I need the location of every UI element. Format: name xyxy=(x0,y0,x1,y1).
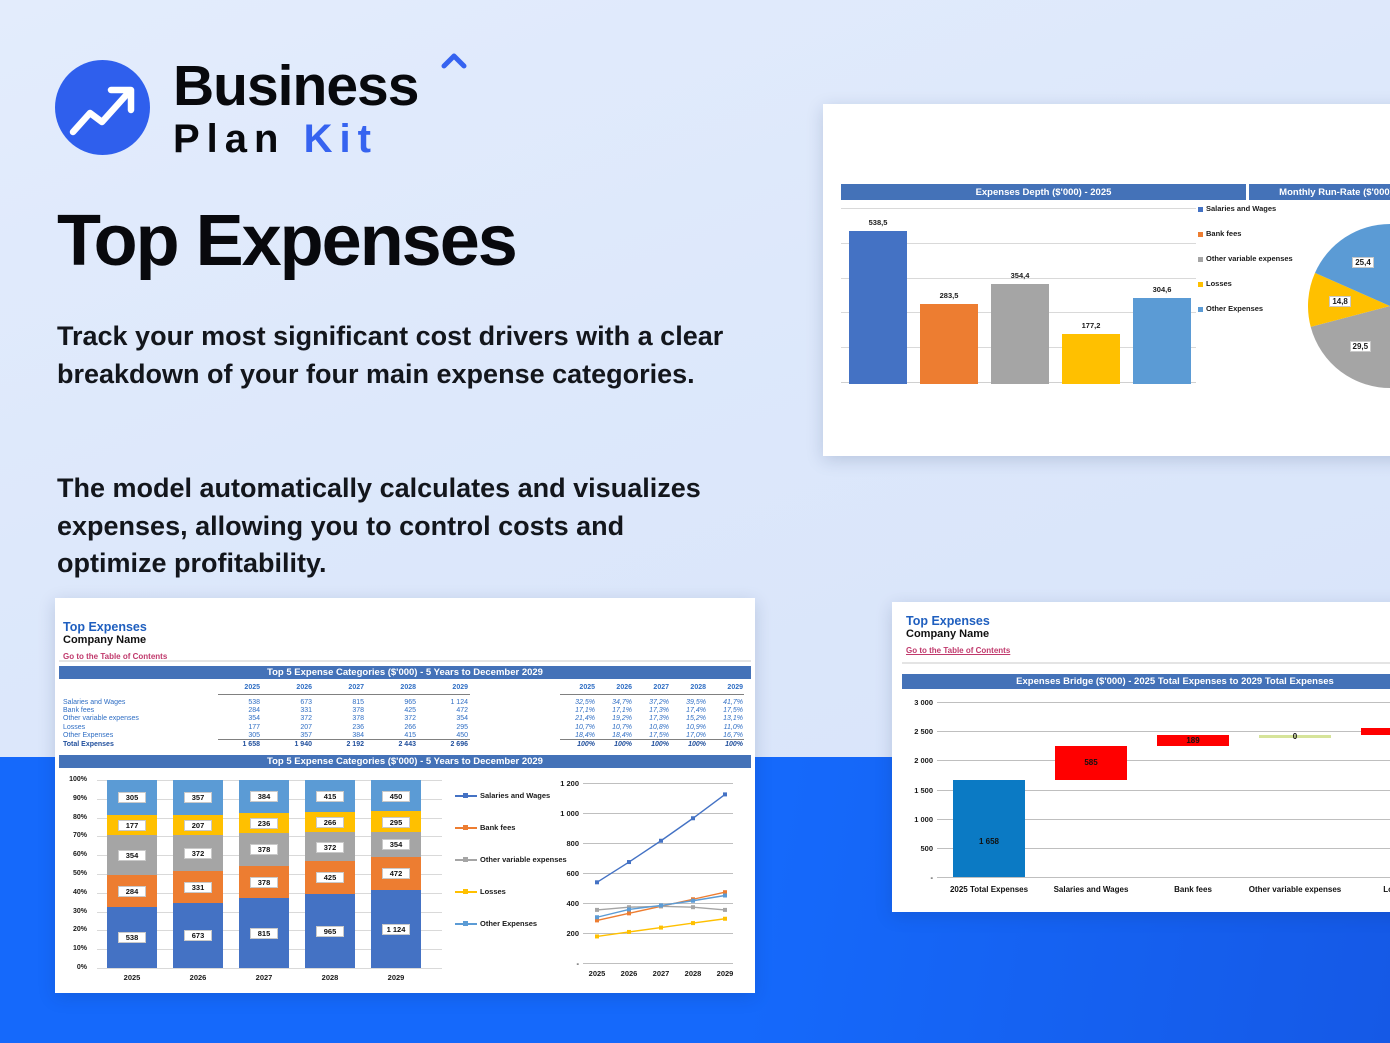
expenses-depth-chart-title: Expenses Depth ($'000) - 2025 xyxy=(841,184,1246,200)
table-row-label: Other variable expenses xyxy=(63,715,139,722)
bridge-x-label: Salaries and Wages xyxy=(1037,885,1145,894)
line-chart-svg xyxy=(583,783,747,967)
segment-value-label: 305 xyxy=(118,792,146,803)
pct-cell: 17,5% xyxy=(637,732,669,739)
gridline xyxy=(841,208,1196,209)
line-marker xyxy=(723,908,727,912)
bridge-sheet-header: Top Expenses Company Name Go to the Tabl… xyxy=(906,614,1010,658)
pct-year-header: 2025 xyxy=(563,684,595,691)
table-cell: 673 xyxy=(270,699,312,706)
table-cell: 425 xyxy=(374,707,416,714)
table-rule xyxy=(218,694,470,695)
expense-categories-panel[interactable]: Top Expenses Company Name Go to the Tabl… xyxy=(55,598,755,993)
line-legend-item: Losses xyxy=(455,887,567,896)
bridge-bar-label: 1 658 xyxy=(953,837,1025,846)
pct-cell: 17,0% xyxy=(674,732,706,739)
hero-paragraph-2: The model automatically calculates and v… xyxy=(57,470,737,583)
line-legend-swatch xyxy=(455,855,477,864)
pct-cell: 32,5% xyxy=(563,699,595,706)
segment-value-label: 354 xyxy=(382,839,410,850)
brand-name-line1: Business xyxy=(173,55,418,117)
pct-year-header: 2026 xyxy=(600,684,632,691)
table-cell: 472 xyxy=(426,707,468,714)
pct-year-header: 2028 xyxy=(674,684,706,691)
bar-0 xyxy=(849,231,907,384)
legend-swatch xyxy=(1198,307,1203,312)
bridge-axis-tick: 500 xyxy=(897,844,933,853)
table-total-cell: 2 696 xyxy=(426,741,468,748)
bridge-axis-tick: 1 000 xyxy=(897,815,933,824)
stack-x-label: 2026 xyxy=(173,973,223,982)
table-cell: 354 xyxy=(426,715,468,722)
pct-cell: 21,4% xyxy=(563,715,595,722)
table-total-cell: 2 192 xyxy=(322,741,364,748)
segment-value-label: 372 xyxy=(184,848,212,859)
line-marker xyxy=(659,926,663,930)
bar-value-label: 304,6 xyxy=(1133,285,1191,294)
line-legend-item: Bank fees xyxy=(455,823,567,832)
legend-item: Losses xyxy=(1198,279,1293,288)
gridline xyxy=(937,702,1390,703)
table-year-header: 2026 xyxy=(270,684,312,691)
pct-cell: 39,5% xyxy=(674,699,706,706)
table-cell: 965 xyxy=(374,699,416,706)
table-total-cell: 1 940 xyxy=(270,741,312,748)
bar-2 xyxy=(991,284,1049,384)
segment-value-label: 384 xyxy=(250,791,278,802)
bridge-bar-label: 0 xyxy=(1259,732,1331,741)
pct-year-header: 2029 xyxy=(711,684,743,691)
segment-value-label: 1 124 xyxy=(382,924,410,935)
bridge-x-label: Bank fees xyxy=(1139,885,1247,894)
table-cell: 266 xyxy=(374,724,416,731)
pct-axis-tick: 70% xyxy=(63,832,87,839)
bar-value-label: 177,2 xyxy=(1062,321,1120,330)
bar-4 xyxy=(1133,298,1191,384)
bridge-axis-tick: - xyxy=(897,873,933,882)
pct-cell: 13,1% xyxy=(711,715,743,722)
line-x-label: 2027 xyxy=(645,969,677,978)
bar-value-label: 354,4 xyxy=(991,271,1049,280)
bridge-table-of-contents-link[interactable]: Go to the Table of Contents xyxy=(906,646,1010,655)
line-axis-tick: 1 000 xyxy=(543,809,579,818)
legend-swatch xyxy=(1198,232,1203,237)
legend-label: Bank fees xyxy=(1206,229,1241,238)
table-cell: 372 xyxy=(374,715,416,722)
pct-cell: 17,3% xyxy=(637,715,669,722)
pct-total-cell: 100% xyxy=(674,741,706,748)
line-marker xyxy=(627,860,631,864)
line-marker xyxy=(595,915,599,919)
expenses-bridge-panel[interactable]: Top Expenses Company Name Go to the Tabl… xyxy=(892,602,1390,912)
expenses-bridge-chart-title: Expenses Bridge ($'000) - 2025 Total Exp… xyxy=(902,674,1390,689)
line-marker xyxy=(595,934,599,938)
segment-value-label: 378 xyxy=(250,877,278,888)
table-cell: 415 xyxy=(374,732,416,739)
table-cell: 450 xyxy=(426,732,468,739)
legend-label: Other variable expenses xyxy=(1206,254,1293,263)
legend-marker xyxy=(463,857,468,862)
line-marker xyxy=(691,899,695,903)
segment-value-label: 207 xyxy=(184,820,212,831)
line-marker xyxy=(627,911,631,915)
table-total-cell: 1 658 xyxy=(218,741,260,748)
pct-cell: 10,7% xyxy=(563,724,595,731)
line-x-label: 2025 xyxy=(581,969,613,978)
segment-value-label: 177 xyxy=(118,820,146,831)
pct-axis-tick: 90% xyxy=(63,795,87,802)
table-cell: 815 xyxy=(322,699,364,706)
pct-cell: 17,5% xyxy=(711,707,743,714)
line-legend-swatch xyxy=(455,919,477,928)
line-legend-item: Other variable expenses xyxy=(455,855,567,864)
bridge-sheet-subtitle: Company Name xyxy=(906,628,1010,640)
table-cell: 378 xyxy=(322,715,364,722)
brand-kit-text: Kit xyxy=(304,117,378,161)
line-legend-label: Losses xyxy=(480,887,506,896)
legend-swatch xyxy=(1198,257,1203,262)
segment-value-label: 284 xyxy=(118,886,146,897)
pct-cell: 17,1% xyxy=(563,707,595,714)
line-marker xyxy=(659,903,663,907)
line-legend-swatch xyxy=(455,823,477,832)
top-chart-titlebar: Expenses Depth ($'000) - 2025 Monthly Ru… xyxy=(841,184,1390,200)
legend-swatch xyxy=(1198,282,1203,287)
bar-3 xyxy=(1062,334,1120,384)
pct-cell: 37,2% xyxy=(637,699,669,706)
legend-marker xyxy=(463,825,468,830)
table-row-label: Bank fees xyxy=(63,707,94,714)
bridge-axis-tick: 1 500 xyxy=(897,786,933,795)
pct-cell: 17,3% xyxy=(637,707,669,714)
bar-value-label: 538,5 xyxy=(849,218,907,227)
sheet-divider xyxy=(59,660,751,662)
bridge-axis-tick: 2 500 xyxy=(897,727,933,736)
table-cell: 378 xyxy=(322,707,364,714)
pct-cell: 41,7% xyxy=(711,699,743,706)
brand-plan-text: Plan xyxy=(173,117,285,161)
legend-item: Other Expenses xyxy=(1198,304,1293,313)
pct-axis-tick: 20% xyxy=(63,926,87,933)
legend-swatch xyxy=(1198,207,1203,212)
bridge-x-label: Other variable expenses xyxy=(1241,885,1349,894)
brand-name-line2: Plan Kit xyxy=(173,117,418,161)
line-legend-swatch xyxy=(455,887,477,896)
sheet-title: Top Expenses xyxy=(63,620,167,634)
gridline xyxy=(97,968,442,969)
line-axis-tick: 800 xyxy=(543,839,579,848)
pct-cell: 10,8% xyxy=(637,724,669,731)
pct-cell: 16,7% xyxy=(711,732,743,739)
line-marker xyxy=(627,930,631,934)
legend-item: Bank fees xyxy=(1198,229,1293,238)
segment-value-label: 354 xyxy=(118,850,146,861)
total-rule xyxy=(218,739,470,740)
pct-total-cell: 100% xyxy=(563,741,595,748)
pct-cell: 17,1% xyxy=(600,707,632,714)
table-year-header: 2028 xyxy=(374,684,416,691)
legend-item: Salaries and Wages xyxy=(1198,204,1293,213)
legend-item: Other variable expenses xyxy=(1198,254,1293,263)
bridge-axis-tick: 2 000 xyxy=(897,756,933,765)
table-cell: 538 xyxy=(218,699,260,706)
legend-marker xyxy=(463,889,468,894)
pct-cell: 17,4% xyxy=(674,707,706,714)
line-marker xyxy=(627,907,631,911)
line-legend-label: Other variable expenses xyxy=(480,855,567,864)
line-marker xyxy=(595,880,599,884)
expenses-depth-bar-chart: 538,5283,5354,4177,2304,6 xyxy=(841,204,1221,384)
stack-x-label: 2025 xyxy=(107,973,157,982)
circumflex-accent-icon xyxy=(441,53,467,69)
bridge-bar-0 xyxy=(953,780,1025,877)
bar-value-label: 283,5 xyxy=(920,291,978,300)
line-axis-tick: 1 200 xyxy=(543,779,579,788)
pie-value-label: 14,8 xyxy=(1329,296,1351,307)
pct-cell: 15,2% xyxy=(674,715,706,722)
table-cell: 236 xyxy=(322,724,364,731)
sheet-header: Top Expenses Company Name Go to the Tabl… xyxy=(63,620,167,664)
pct-axis-tick: 100% xyxy=(63,776,87,783)
table-cell: 284 xyxy=(218,707,260,714)
table-row-label: Losses xyxy=(63,724,85,731)
pie-value-label: 29,5 xyxy=(1350,341,1372,352)
bridge-sheet-title: Top Expenses xyxy=(906,614,1010,628)
table-cell: 331 xyxy=(270,707,312,714)
line-legend-item: Other Expenses xyxy=(455,919,567,928)
segment-value-label: 815 xyxy=(250,928,278,939)
line-x-label: 2029 xyxy=(709,969,741,978)
pie-value-label: 25,4 xyxy=(1352,257,1374,268)
bridge-axis-tick: 3 000 xyxy=(897,698,933,707)
legend-label: Salaries and Wages xyxy=(1206,204,1276,213)
line-marker xyxy=(723,917,727,921)
bar-1 xyxy=(920,304,978,384)
segment-value-label: 378 xyxy=(250,844,278,855)
segment-value-label: 295 xyxy=(382,817,410,828)
line-axis-tick: 400 xyxy=(543,899,579,908)
line-legend-item: Salaries and Wages xyxy=(455,791,567,800)
expense-table-title: Top 5 Expense Categories ($'000) - 5 Yea… xyxy=(59,666,751,679)
line-marker xyxy=(723,792,727,796)
pct-year-header: 2027 xyxy=(637,684,669,691)
pct-axis-tick: 0% xyxy=(63,964,87,971)
monthly-run-rate-pie-chart: 44,923,629,514,825,4 xyxy=(1308,224,1390,389)
line-x-label: 2028 xyxy=(677,969,709,978)
pct-cell: 10,9% xyxy=(674,724,706,731)
monthly-run-rate-chart-title: Monthly Run-Rate ($'000) xyxy=(1249,184,1390,200)
segment-value-label: 331 xyxy=(184,882,212,893)
line-axis-tick: 200 xyxy=(543,929,579,938)
pct-rule xyxy=(560,694,744,695)
legend-marker xyxy=(463,921,468,926)
segment-value-label: 415 xyxy=(316,791,344,802)
pct-cell: 11,0% xyxy=(711,724,743,731)
line-marker xyxy=(691,921,695,925)
line-legend-label: Salaries and Wages xyxy=(480,791,550,800)
line-marker xyxy=(691,905,695,909)
segment-value-label: 236 xyxy=(250,818,278,829)
table-year-header: 2029 xyxy=(426,684,468,691)
table-row-label: Salaries and Wages xyxy=(63,699,125,706)
trending-up-arrow-icon xyxy=(55,60,150,155)
table-cell: 207 xyxy=(270,724,312,731)
segment-value-label: 450 xyxy=(382,791,410,802)
line-marker xyxy=(723,894,727,898)
segment-value-label: 673 xyxy=(184,930,212,941)
expenses-depth-panel[interactable]: Expenses Depth ($'000) - 2025 Monthly Ru… xyxy=(823,104,1390,456)
table-year-header: 2027 xyxy=(322,684,364,691)
legend-label: Other Expenses xyxy=(1206,304,1263,313)
bridge-bar-label: 585 xyxy=(1055,758,1127,767)
hero-paragraph-1: Track your most significant cost drivers… xyxy=(57,318,737,393)
bridge-x-label: Losses xyxy=(1343,885,1390,894)
line-legend-label: Other Expenses xyxy=(480,919,537,928)
segment-value-label: 372 xyxy=(316,842,344,853)
segment-value-label: 538 xyxy=(118,932,146,943)
pct-axis-tick: 40% xyxy=(63,889,87,896)
stacked-chart-title: Top 5 Expense Categories ($'000) - 5 Yea… xyxy=(59,755,751,768)
pct-axis-tick: 10% xyxy=(63,945,87,952)
table-year-header: 2025 xyxy=(218,684,260,691)
line-axis-tick: 600 xyxy=(543,869,579,878)
pct-axis-tick: 60% xyxy=(63,851,87,858)
bridge-axis-line xyxy=(937,877,1390,878)
line-legend-label: Bank fees xyxy=(480,823,515,832)
pct-axis-tick: 30% xyxy=(63,908,87,915)
line-legend-swatch xyxy=(455,791,477,800)
segment-value-label: 425 xyxy=(316,872,344,883)
table-row-label: Other Expenses xyxy=(63,732,113,739)
table-total-label: Total Expenses xyxy=(63,741,114,748)
segment-value-label: 266 xyxy=(316,817,344,828)
segment-value-label: 965 xyxy=(316,926,344,937)
bridge-sheet-divider xyxy=(902,662,1390,664)
table-cell: 305 xyxy=(218,732,260,739)
table-cell: 384 xyxy=(322,732,364,739)
pct-total-cell: 100% xyxy=(600,741,632,748)
line-marker xyxy=(595,908,599,912)
pct-cell: 10,7% xyxy=(600,724,632,731)
stack-x-label: 2028 xyxy=(305,973,355,982)
pct-cell: 19,2% xyxy=(600,715,632,722)
table-cell: 354 xyxy=(218,715,260,722)
brand-logo: Business Plan Kit xyxy=(55,55,495,160)
pct-cell: 18,4% xyxy=(563,732,595,739)
table-cell: 177 xyxy=(218,724,260,731)
bridge-bar-label: 1 xyxy=(1361,727,1390,736)
pct-cell: 34,7% xyxy=(600,699,632,706)
table-cell: 295 xyxy=(426,724,468,731)
table-cell: 1 124 xyxy=(426,699,468,706)
bridge-bar-label: 189 xyxy=(1157,736,1229,745)
stack-x-label: 2029 xyxy=(371,973,421,982)
sheet-subtitle: Company Name xyxy=(63,634,167,646)
legend-marker xyxy=(463,793,468,798)
table-cell: 372 xyxy=(270,715,312,722)
expenses-depth-legend: Salaries and WagesBank feesOther variabl… xyxy=(1198,204,1293,329)
line-axis-tick: - xyxy=(543,959,579,968)
pct-total-rule xyxy=(560,739,744,740)
pct-total-cell: 100% xyxy=(637,741,669,748)
table-total-cell: 2 443 xyxy=(374,741,416,748)
segment-value-label: 357 xyxy=(184,792,212,803)
table-cell: 357 xyxy=(270,732,312,739)
bridge-x-label: 2025 Total Expenses xyxy=(935,885,1043,894)
page-title: Top Expenses xyxy=(57,202,516,280)
pct-axis-tick: 50% xyxy=(63,870,87,877)
line-series xyxy=(597,794,725,882)
pct-axis-tick: 80% xyxy=(63,814,87,821)
pct-cell: 18,4% xyxy=(600,732,632,739)
legend-label: Losses xyxy=(1206,279,1232,288)
line-marker xyxy=(691,816,695,820)
stack-x-label: 2027 xyxy=(239,973,289,982)
segment-value-label: 472 xyxy=(382,868,410,879)
line-marker xyxy=(659,839,663,843)
line-x-label: 2026 xyxy=(613,969,645,978)
pct-total-cell: 100% xyxy=(711,741,743,748)
gridline xyxy=(937,760,1390,761)
